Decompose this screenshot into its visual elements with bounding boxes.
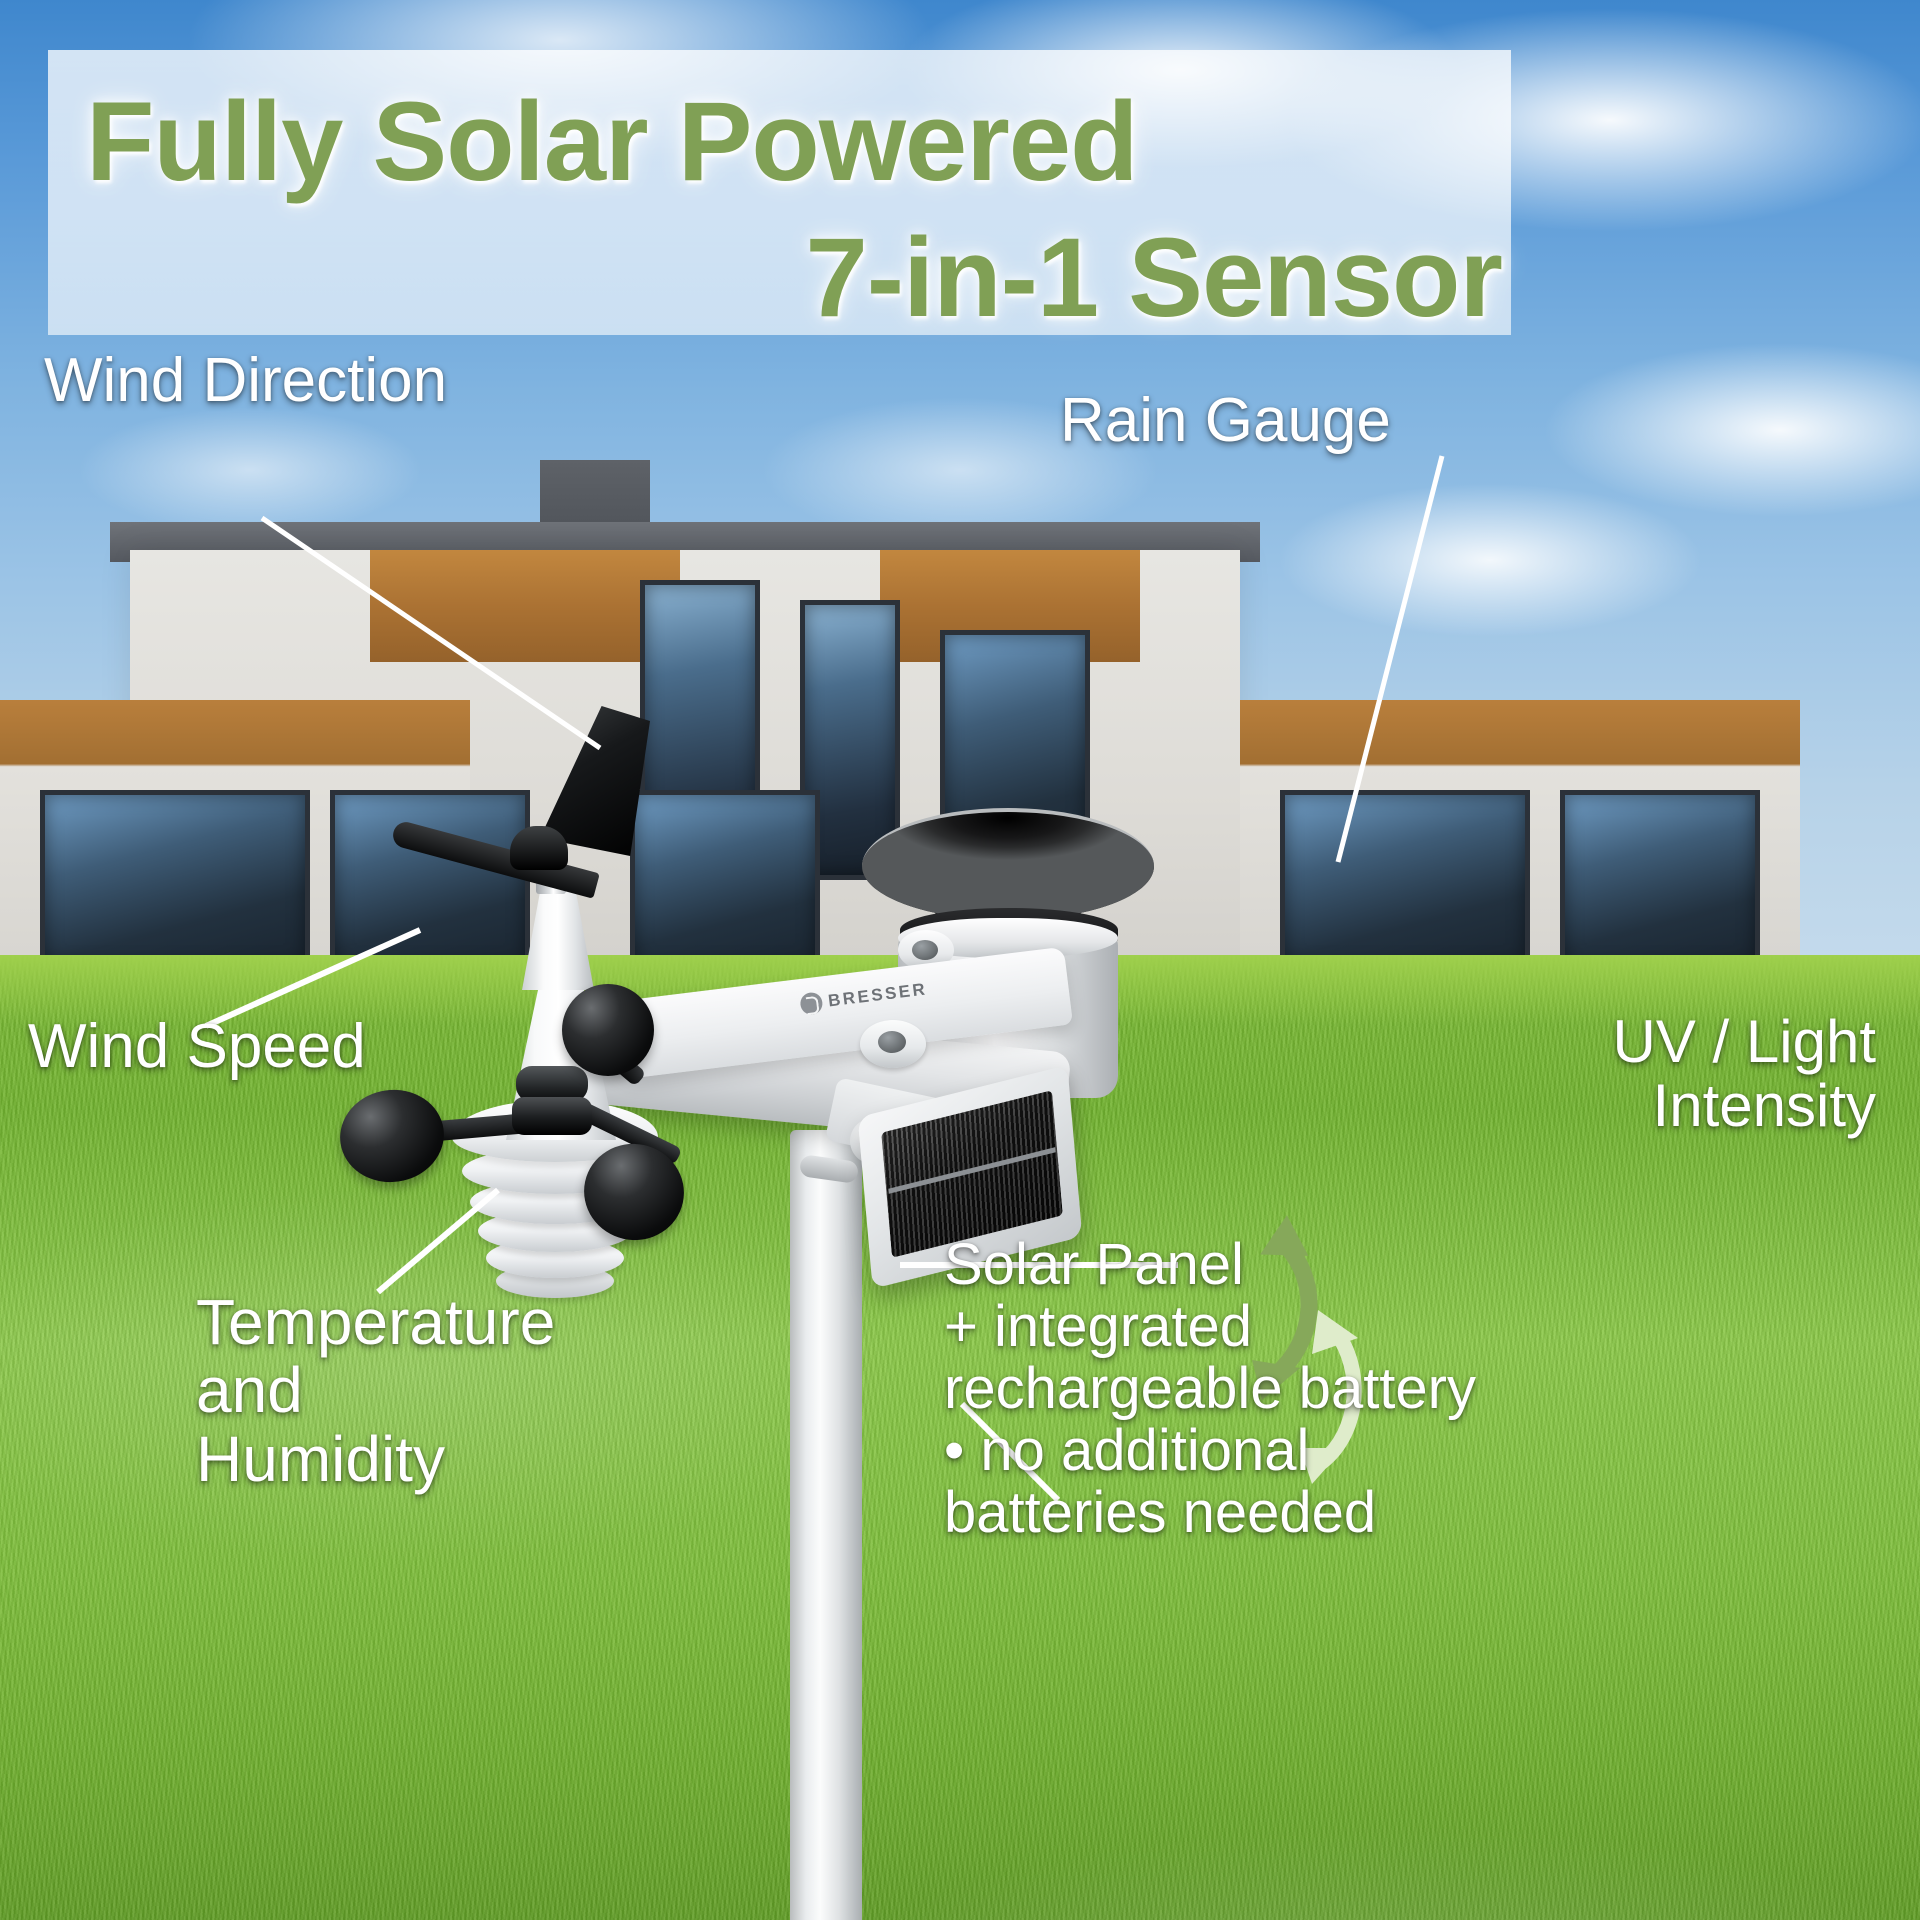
title-block: Fully Solar Powered 7-in-1 Sensor bbox=[48, 50, 1516, 370]
callout-wind-direction: Wind Direction bbox=[44, 348, 447, 414]
page-title-line-2: 7-in-1 Sensor bbox=[48, 222, 1516, 334]
page-title-line-1: Fully Solar Powered bbox=[48, 86, 1516, 198]
infographic-canvas: BRESSER bbox=[0, 0, 1920, 1920]
callout-uv-light-intensity: UV / Light Intensity bbox=[1186, 1010, 1876, 1138]
callout-temperature-humidity: Temperature and Humidity bbox=[196, 1288, 555, 1493]
callout-solar-panel: Solar Panel + integrated rechargeable ba… bbox=[944, 1234, 1476, 1544]
callout-rain-gauge: Rain Gauge bbox=[1060, 388, 1391, 454]
callout-wind-speed: Wind Speed bbox=[28, 1014, 366, 1080]
